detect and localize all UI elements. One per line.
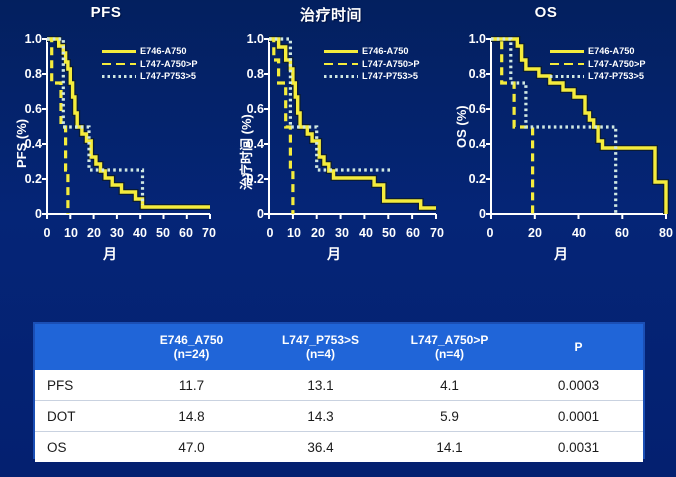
legend-dashed-line-icon [102, 59, 136, 69]
stats-table-container: E746_A750 (n=24) L747_P753>S (n=4) L747_… [33, 322, 645, 459]
legend-label-l747p: L747-P753>5 [588, 70, 644, 83]
ytick-dot-2: 0.8 [228, 67, 264, 81]
ytick-os-1: 1.0 [446, 32, 486, 46]
ytick-dot-1: 1.0 [228, 32, 264, 46]
legend-label-l747a: L747-A750>P [140, 58, 197, 71]
table-cell-pfs-p: 0.0003 [514, 370, 643, 401]
table-cell-os-p: 0.0031 [514, 432, 643, 463]
legend-dotted-line-icon [102, 71, 136, 81]
table-header-blank [35, 324, 127, 370]
xtick-pfs-8: 70 [197, 226, 221, 240]
legend-label-l747p: L747-P753>5 [362, 70, 418, 83]
table-header-e746: E746_A750 (n=24) [127, 324, 256, 370]
xtick-dot-3: 20 [306, 226, 330, 240]
table-cell-dot-p: 0.0001 [514, 401, 643, 432]
legend-item-l747p: L747-P753>5 [102, 70, 197, 83]
table-row: OS 47.0 36.4 14.1 0.0031 [35, 432, 643, 463]
table-header-l747a750-n: (n=4) [385, 347, 514, 361]
xtick-os-4: 60 [610, 226, 634, 240]
table-cell-pfs-e746: 11.7 [127, 370, 256, 401]
xtick-pfs-3: 20 [82, 226, 106, 240]
ytick-pfs-6: 0 [6, 207, 42, 221]
legend-item-l747a: L747-A750>P [550, 58, 645, 71]
chart-legend-pfs: E746-A750 L747-A750>P L747-P753>5 [102, 45, 197, 83]
table-cell-pfs-l747p753: 13.1 [256, 370, 385, 401]
chart-panel-pfs: PFS PFS (%) 1.0 0.8 0.6 0.4 0.2 0 [0, 0, 228, 285]
chart-legend-dot: E746-A750 L747-A750>P L747-P753>5 [324, 45, 419, 83]
legend-label-l747a: L747-A750>P [362, 58, 419, 71]
chart-title-os: OS [446, 4, 646, 21]
legend-item-e746: E746-A750 [102, 45, 197, 58]
ytick-os-2: 0.8 [446, 67, 486, 81]
legend-dashed-line-icon [550, 59, 584, 69]
xtick-pfs-1: 0 [36, 226, 58, 240]
table-header-l747a750-title: L747_A750>P [411, 333, 489, 347]
table-cell-dot-l747a750: 5.9 [385, 401, 514, 432]
legend-label-e746: E746-A750 [588, 45, 634, 58]
table-cell-label-dot: DOT [35, 401, 127, 432]
chart-panel-os: OS OS (%) 1.0 0.8 0.6 0.4 0.2 0 [446, 0, 676, 285]
legend-label-e746: E746-A750 [140, 45, 186, 58]
xtick-pfs-2: 10 [59, 226, 83, 240]
ytick-os-5: 0.2 [446, 172, 486, 186]
xtick-dot-4: 30 [330, 226, 354, 240]
legend-solid-line-icon [324, 46, 358, 56]
table-row: DOT 14.8 14.3 5.9 0.0001 [35, 401, 643, 432]
ytick-os-6: 0 [446, 207, 486, 221]
xtick-dot-2: 10 [282, 226, 306, 240]
xtick-dot-6: 50 [377, 226, 401, 240]
stats-table: E746_A750 (n=24) L747_P753>S (n=4) L747_… [35, 324, 643, 462]
legend-solid-line-icon [550, 46, 584, 56]
table-header-l747p753: L747_P753>S (n=4) [256, 324, 385, 370]
legend-item-l747a: L747-A750>P [324, 58, 419, 71]
charts-row: PFS PFS (%) 1.0 0.8 0.6 0.4 0.2 0 [0, 0, 676, 285]
table-cell-os-l747p753: 36.4 [256, 432, 385, 463]
table-cell-dot-l747p753: 14.3 [256, 401, 385, 432]
ytick-dot-3: 0.6 [228, 102, 264, 116]
ytick-os-4: 0.4 [446, 137, 486, 151]
ytick-pfs-1: 1.0 [6, 32, 42, 46]
table-cell-pfs-l747a750: 4.1 [385, 370, 514, 401]
table-cell-label-pfs: PFS [35, 370, 127, 401]
ytick-dot-6: 0 [228, 207, 264, 221]
ytick-dot-5: 0.2 [228, 172, 264, 186]
table-cell-label-os: OS [35, 432, 127, 463]
xtick-os-5: 80 [654, 226, 676, 240]
table-header-e746-title: E746_A750 [160, 333, 223, 347]
legend-item-e746: E746-A750 [324, 45, 419, 58]
legend-item-e746: E746-A750 [550, 45, 645, 58]
chart-title-dot: 治疗时间 [226, 4, 436, 25]
table-header-l747p753-n: (n=4) [256, 347, 385, 361]
table-row: PFS 11.7 13.1 4.1 0.0003 [35, 370, 643, 401]
xtick-os-2: 20 [523, 226, 547, 240]
legend-label-l747p: L747-P753>5 [140, 70, 196, 83]
chart-panel-dot: 治疗时间 治疗时间 (%) 1.0 0.8 0.6 0.4 0.2 0 [226, 0, 448, 285]
legend-label-l747a: L747-A750>P [588, 58, 645, 71]
table-header-l747a750: L747_A750>P (n=4) [385, 324, 514, 370]
table-cell-os-l747a750: 14.1 [385, 432, 514, 463]
xtick-pfs-6: 50 [151, 226, 175, 240]
table-header-e746-n: (n=24) [127, 347, 256, 361]
legend-dotted-line-icon [324, 71, 358, 81]
table-header-row: E746_A750 (n=24) L747_P753>S (n=4) L747_… [35, 324, 643, 370]
table-header-l747p753-title: L747_P753>S [282, 333, 359, 347]
legend-item-l747a: L747-A750>P [102, 58, 197, 71]
chart-xlabel-os: 月 [531, 244, 591, 264]
table-cell-dot-e746: 14.8 [127, 401, 256, 432]
table-header-p: P [514, 324, 643, 370]
slide-root: PFS PFS (%) 1.0 0.8 0.6 0.4 0.2 0 [0, 0, 676, 477]
table-cell-os-e746: 47.0 [127, 432, 256, 463]
ytick-pfs-4: 0.4 [6, 137, 42, 151]
ytick-pfs-2: 0.8 [6, 67, 42, 81]
legend-solid-line-icon [102, 46, 136, 56]
ytick-os-3: 0.6 [446, 102, 486, 116]
ytick-pfs-3: 0.6 [6, 102, 42, 116]
chart-legend-os: E746-A750 L747-A750>P L747-P753>5 [550, 45, 645, 83]
chart-xlabel-pfs: 月 [80, 244, 140, 264]
xtick-dot-7: 60 [401, 226, 425, 240]
ytick-pfs-5: 0.2 [6, 172, 42, 186]
ytick-dot-4: 0.4 [228, 137, 264, 151]
chart-xlabel-dot: 月 [304, 244, 364, 264]
xtick-dot-5: 40 [354, 226, 378, 240]
legend-dotted-line-icon [550, 71, 584, 81]
xtick-pfs-5: 40 [128, 226, 152, 240]
legend-item-l747p: L747-P753>5 [324, 70, 419, 83]
chart-title-pfs: PFS [6, 4, 206, 21]
xtick-os-1: 0 [479, 226, 501, 240]
xtick-os-3: 40 [567, 226, 591, 240]
xtick-pfs-4: 30 [105, 226, 129, 240]
legend-item-l747p: L747-P753>5 [550, 70, 645, 83]
xtick-pfs-7: 60 [174, 226, 198, 240]
legend-label-e746: E746-A750 [362, 45, 408, 58]
legend-dashed-line-icon [324, 59, 358, 69]
xtick-dot-1: 0 [259, 226, 281, 240]
